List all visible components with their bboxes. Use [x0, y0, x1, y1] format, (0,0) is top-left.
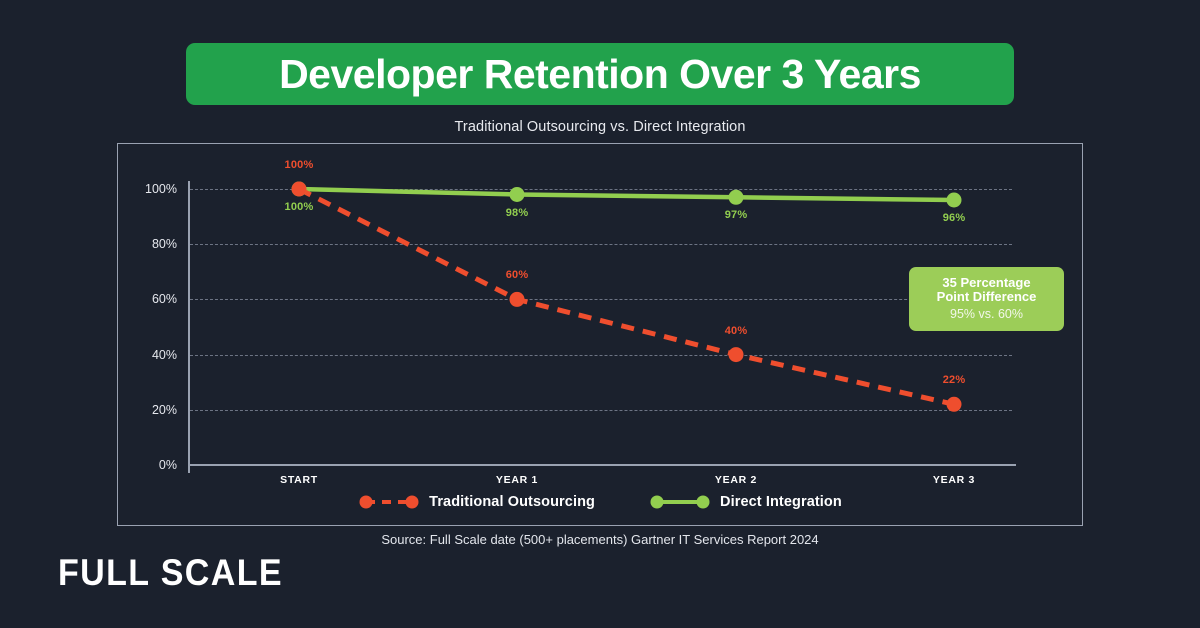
line-direct-integration	[299, 189, 954, 200]
data-point-marker	[510, 292, 525, 307]
x-tick-label-year-2: YEAR 2	[715, 474, 757, 486]
callout-line-1: 35 Percentage	[942, 276, 1030, 291]
title-banner: Developer Retention Over 3 Years	[186, 43, 1014, 105]
callout-difference: 35 Percentage Point Difference 95% vs. 6…	[909, 267, 1064, 331]
chart-subtitle: Traditional Outsourcing vs. Direct Integ…	[0, 119, 1200, 135]
data-point-marker	[729, 190, 744, 205]
x-tick-label-year-1: YEAR 1	[496, 474, 538, 486]
legend-item-direct-integration[interactable]: Direct Integration	[649, 494, 842, 510]
data-point-marker	[947, 193, 962, 208]
legend-label-direct-integration: Direct Integration	[720, 494, 842, 510]
legend-swatch-solid-line-icon	[649, 494, 711, 510]
y-tick-label: 60%	[152, 292, 177, 306]
data-point-label: 97%	[725, 209, 748, 221]
data-point-label: 96%	[943, 212, 966, 224]
y-tick-label: 20%	[152, 403, 177, 417]
series-plot	[188, 189, 1012, 465]
x-tick-label-year-3: YEAR 3	[933, 474, 975, 486]
plot-area: 100% 80% 60% 40% 20% 0% START YEAR 1 YEA…	[188, 189, 1012, 465]
y-tick-label: 80%	[152, 237, 177, 251]
legend-swatch-dashed-line-icon	[358, 494, 420, 510]
callout-subtext: 95% vs. 60%	[950, 306, 1023, 322]
chart-panel: 100% 80% 60% 40% 20% 0% START YEAR 1 YEA…	[117, 143, 1083, 526]
source-note: Source: Full Scale date (500+ placements…	[0, 532, 1200, 547]
chart-legend: Traditional Outsourcing Direct Integrati…	[0, 494, 1200, 510]
data-point-label: 100%	[285, 159, 314, 171]
data-point-label: 100%	[285, 201, 314, 213]
data-point-label: 60%	[506, 269, 529, 281]
data-point-marker	[729, 347, 744, 362]
data-point-label: 98%	[506, 207, 529, 219]
full-scale-logo: FULL SCALE	[58, 552, 283, 594]
data-point-marker	[292, 182, 307, 197]
line-traditional-outsourcing	[299, 189, 954, 404]
y-tick-label: 40%	[152, 348, 177, 362]
markers-traditional-outsourcing	[292, 182, 962, 412]
data-point-label: 40%	[725, 325, 748, 337]
legend-label-traditional-outsourcing: Traditional Outsourcing	[429, 494, 595, 510]
y-tick-label: 100%	[145, 182, 177, 196]
page-title: Developer Retention Over 3 Years	[279, 54, 921, 95]
legend-item-traditional-outsourcing[interactable]: Traditional Outsourcing	[358, 494, 595, 510]
callout-line-2: Point Difference	[937, 290, 1037, 305]
y-tick-label: 0%	[159, 458, 177, 472]
data-point-marker	[947, 397, 962, 412]
data-point-label: 22%	[943, 374, 966, 386]
data-point-marker	[510, 187, 525, 202]
x-tick-label-start: START	[280, 474, 318, 486]
